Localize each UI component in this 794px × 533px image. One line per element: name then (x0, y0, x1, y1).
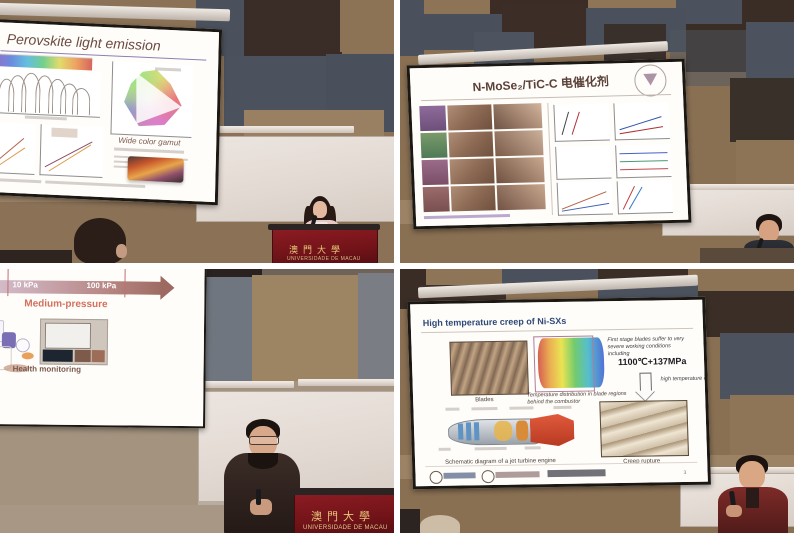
ear (116, 244, 127, 258)
wall-panel (730, 78, 794, 142)
presenter-bl (218, 419, 306, 533)
footer-logos (429, 467, 609, 484)
eqe-plot-right (39, 124, 103, 178)
wall-panel (200, 277, 256, 385)
annotation-creep-label: high temperature creep (661, 376, 708, 383)
whiteboard-light-rail (214, 126, 354, 133)
plot-d (615, 144, 671, 178)
collage-panel-top-right: N-MoSe₂/TiC-C 电催化剂 (397, 0, 794, 266)
whiteboard-light-rail (204, 381, 294, 388)
lectern-text-cn: 澳門大學 (311, 508, 375, 524)
annotation-condition-value: 1100℃+137MPa (618, 356, 687, 368)
audience-member-br (420, 515, 460, 533)
cie-caption: Wide color gamut (118, 136, 180, 148)
title-underline (421, 94, 671, 101)
slide-title: High temperature creep of Ni-SXs (423, 316, 567, 328)
title-underline (421, 328, 693, 333)
lecture-hall-scene-br: High temperature creep of Ni-SXs Blades … (400, 269, 794, 533)
slide-superalloy-creep: High temperature creep of Ni-SXs Blades … (410, 300, 708, 486)
lectern-text-cn: 澳門大學 (289, 243, 345, 256)
plot-b (613, 102, 670, 140)
creep-rupture-photo (599, 400, 689, 457)
lectern-top-edge (290, 488, 394, 495)
caption-blades: Blades (475, 397, 494, 403)
foreground-shadow (0, 250, 72, 263)
glasses-icon (249, 436, 279, 445)
cie-subcaption (114, 148, 184, 154)
eqe-plot-left (0, 122, 36, 175)
university-emblem (634, 64, 667, 97)
whiteboard-tl (196, 136, 394, 222)
footer-page-number: 3 (683, 470, 686, 476)
sem-series-caption (424, 214, 510, 219)
whiteboard-light-rail (298, 379, 394, 386)
tick-label-100kpa: 100 kPa (86, 281, 116, 290)
column-divider (547, 103, 553, 215)
regime-label-medium: Medium-pressure (24, 298, 107, 310)
presenter-br (718, 455, 788, 533)
plot-f (617, 180, 673, 214)
plot-e (557, 181, 613, 215)
perovskite-device-photo (127, 156, 184, 183)
lectern-bl: 澳門大學 UNIVERSIDADE DE MACAU (294, 493, 394, 533)
lecture-hall-scene-tr: N-MoSe₂/TiC-C 电催化剂 (400, 0, 794, 263)
wall-panel (698, 291, 794, 337)
hoodie-collar (248, 453, 278, 469)
lectern-top-edge (268, 224, 380, 230)
slide-reference (45, 180, 145, 188)
caption-health-monitoring: Health monitoring (13, 364, 82, 374)
photo-collage: Perovskite light emission (0, 0, 794, 533)
collage-panel-bottom-left: 10 kPa 100 kPa re Medium-pressure (0, 266, 397, 533)
audience-member-tl (72, 218, 130, 263)
jet-engine-schematic (437, 406, 589, 456)
projector-screen-bl: 10 kPa 100 kPa re Medium-pressure (0, 269, 207, 428)
hand (250, 499, 272, 515)
cie-legend-perovskite (155, 67, 181, 71)
pl-xlabel (25, 115, 67, 120)
render-bounding-box (533, 335, 595, 392)
slide-title: N-MoSe₂/TiC-C 电催化剂 (472, 72, 609, 95)
monitoring-workstation-photo (40, 319, 108, 366)
slide-perovskite: Perovskite light emission (0, 22, 219, 202)
eqe-legend (51, 128, 77, 138)
projector-screen-tl: Perovskite light emission (0, 19, 222, 206)
slide-reference (0, 178, 41, 183)
microphone (256, 489, 261, 505)
projector-screen-br: High temperature creep of Ni-SXs Blades … (407, 297, 711, 490)
foreground-desk (400, 509, 420, 533)
hair (420, 515, 460, 533)
slide-pressure-sensor: 10 kPa 100 kPa re Medium-pressure (0, 269, 205, 426)
cie-chromaticity-plot (110, 61, 193, 138)
plot-c (555, 146, 611, 180)
wall-panel (720, 333, 794, 399)
wall-panel (252, 275, 362, 381)
slide-title: Perovskite light emission (7, 31, 161, 54)
slide-electrocatalyst: N-MoSe₂/TiC-C 电催化剂 (410, 62, 689, 227)
lectern-tl: 澳門大學 UNIVERSIDADE DE MACAU (272, 228, 378, 263)
pressure-arrow-head (160, 276, 174, 300)
lectern-text-pt: UNIVERSIDADE DE MACAU (303, 525, 388, 531)
lecture-hall-scene-bl: 10 kPa 100 kPa re Medium-pressure (0, 269, 394, 533)
pl-spectra-plot (0, 68, 101, 118)
wall-panel (340, 0, 394, 52)
tick-label-10kpa: 10 kPa (12, 280, 37, 289)
wall-panel (242, 0, 342, 62)
turbine-blades-photo (449, 340, 529, 395)
wall-panel (730, 395, 794, 457)
projector-screen-tr: N-MoSe₂/TiC-C 电催化剂 (407, 59, 692, 230)
sem-image-grid (419, 103, 548, 214)
face (739, 461, 765, 489)
collage-panel-top-left: Perovskite light emission (0, 0, 397, 266)
lecture-hall-scene-tl: Perovskite light emission (0, 0, 394, 263)
lectern-text-pt: UNIVERSIDADE DE MACAU (287, 256, 361, 262)
hand (726, 505, 742, 517)
collage-panel-bottom-right: High temperature creep of Ni-SXs Blades … (397, 266, 794, 533)
shirt (746, 488, 759, 508)
desk-front (700, 248, 794, 263)
plot-a (553, 104, 610, 142)
wall-panel (746, 22, 794, 82)
wall-panel (358, 273, 394, 383)
